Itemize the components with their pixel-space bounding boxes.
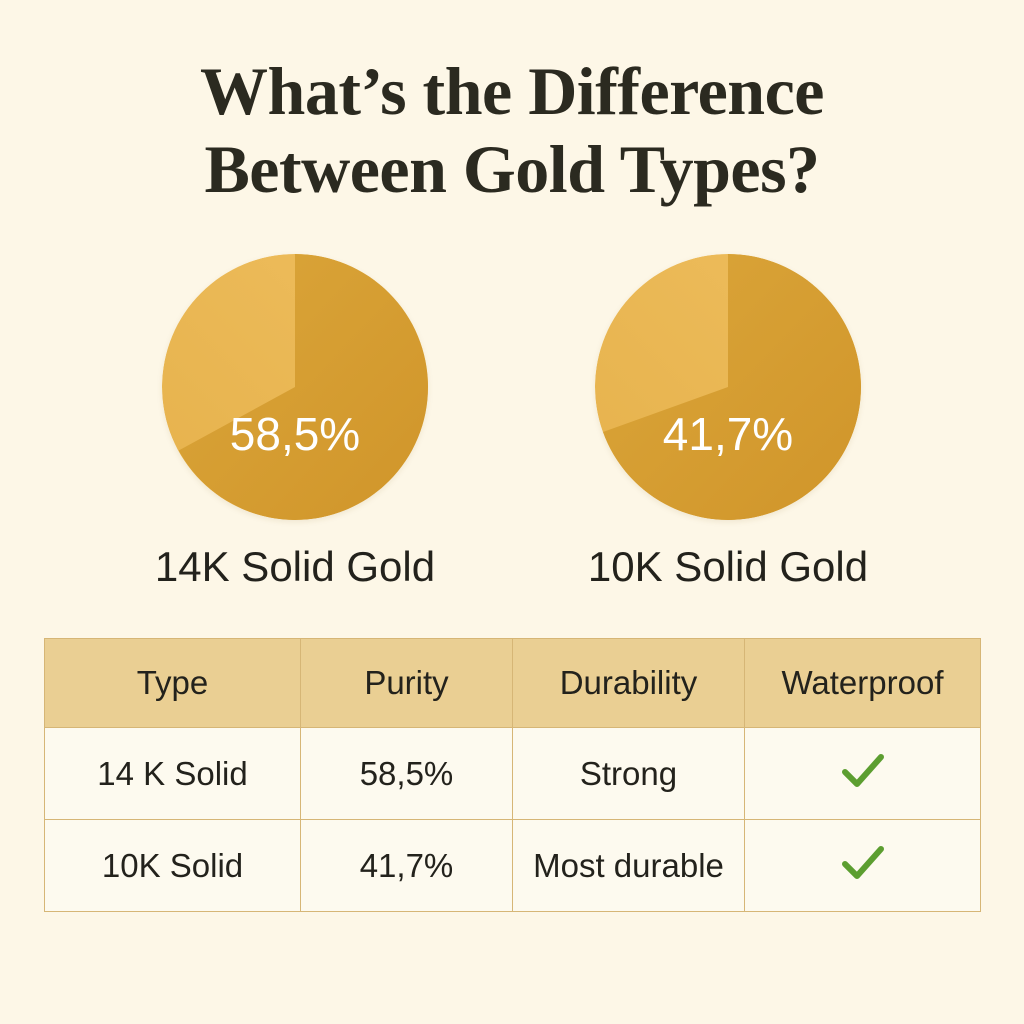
pie-chart-group: 58,5% [0, 254, 1024, 524]
page-title: What’s the Difference Between Gold Types… [0, 52, 1024, 208]
title-line-1: What’s the Difference [0, 52, 1024, 130]
table-row: 10K Solid 41,7% Most durable [45, 820, 981, 912]
cell-purity-10k: 41,7% [301, 820, 513, 912]
cell-waterproof-10k [745, 820, 981, 912]
cell-durability-10k: Most durable [513, 820, 745, 912]
pie-14k-svg [162, 254, 428, 520]
pie-chart-10k: 41,7% [595, 254, 861, 520]
pie-chart-14k: 58,5% [162, 254, 428, 520]
infographic-page: What’s the Difference Between Gold Types… [0, 0, 1024, 1024]
check-icon [840, 751, 886, 796]
pie-14k-graphic [162, 254, 428, 520]
pie-caption-14k: 14K Solid Gold [80, 543, 510, 591]
pie-caption-10k: 10K Solid Gold [513, 543, 943, 591]
table-header-row: Type Purity Durability Waterproof [45, 639, 981, 728]
pie-10k-svg [595, 254, 861, 520]
table-header-type: Type [45, 639, 301, 728]
title-line-2: Between Gold Types? [0, 130, 1024, 208]
table-header-waterproof: Waterproof [745, 639, 981, 728]
cell-waterproof-14k [745, 728, 981, 820]
table-body: 14 K Solid 58,5% Strong 10K Solid 41,7% … [45, 728, 981, 912]
cell-purity-14k: 58,5% [301, 728, 513, 820]
table-header-purity: Purity [301, 639, 513, 728]
table-header-durability: Durability [513, 639, 745, 728]
cell-type-14k: 14 K Solid [45, 728, 301, 820]
table-row: 14 K Solid 58,5% Strong [45, 728, 981, 820]
check-icon [840, 843, 886, 888]
cell-durability-14k: Strong [513, 728, 745, 820]
pie-10k-graphic [595, 254, 861, 520]
comparison-table: Type Purity Durability Waterproof 14 K S… [44, 638, 981, 912]
table-header: Type Purity Durability Waterproof [45, 639, 981, 728]
pie-caption-group: 14K Solid Gold 10K Solid Gold [0, 543, 1024, 603]
cell-type-10k: 10K Solid [45, 820, 301, 912]
